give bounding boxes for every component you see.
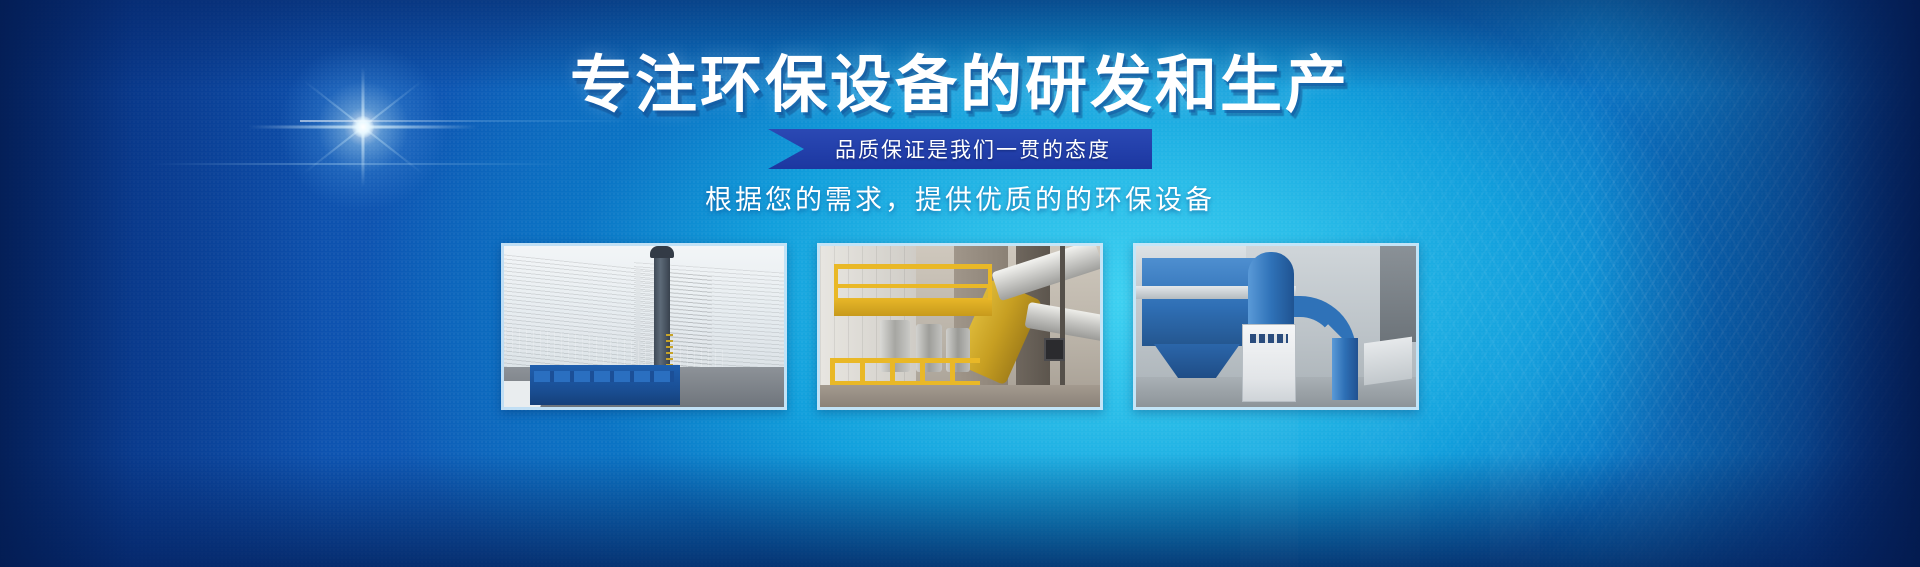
quality-badge: 品质保证是我们一贯的态度 — [768, 129, 1152, 169]
banner-headline: 专注环保设备的研发和生产 — [0, 55, 1920, 117]
hero-banner: 专注环保设备的研发和生产 品质保证是我们一贯的态度 根据您的需求，提供优质的的环… — [0, 0, 1920, 567]
ph2-vertical-pipe — [1060, 246, 1065, 407]
ph3-dark-wall — [1380, 246, 1416, 342]
ph2-floor — [820, 385, 1100, 407]
photo-thumbnail-2[interactable] — [817, 243, 1103, 410]
ph1-stack-cap — [650, 246, 674, 258]
quality-badge-label: 品质保证是我们一贯的态度 — [809, 134, 1111, 164]
ph2-platform-deck — [834, 298, 992, 316]
photo-thumbnail-3[interactable] — [1133, 243, 1419, 410]
ph3-downpipe — [1332, 338, 1358, 400]
banner-subline: 根据您的需求，提供优质的的环保设备 — [0, 178, 1920, 217]
photo-strip — [0, 243, 1920, 410]
ph2-upper-railing — [834, 264, 992, 300]
ph3-tank — [1364, 337, 1412, 386]
banner-content: 专注环保设备的研发和生产 品质保证是我们一贯的态度 根据您的需求，提供优质的的环… — [0, 0, 1920, 567]
ph2-control-box — [1044, 338, 1065, 361]
photo-thumbnail-1[interactable] — [501, 243, 787, 410]
ph3-control-cabinet — [1242, 324, 1296, 402]
badge-container: 品质保证是我们一贯的态度 — [0, 129, 1920, 169]
photo-1-image — [504, 246, 784, 407]
photo-2-image — [820, 246, 1100, 407]
ph1-blue-unit — [530, 365, 680, 405]
photo-3-image — [1136, 246, 1416, 407]
